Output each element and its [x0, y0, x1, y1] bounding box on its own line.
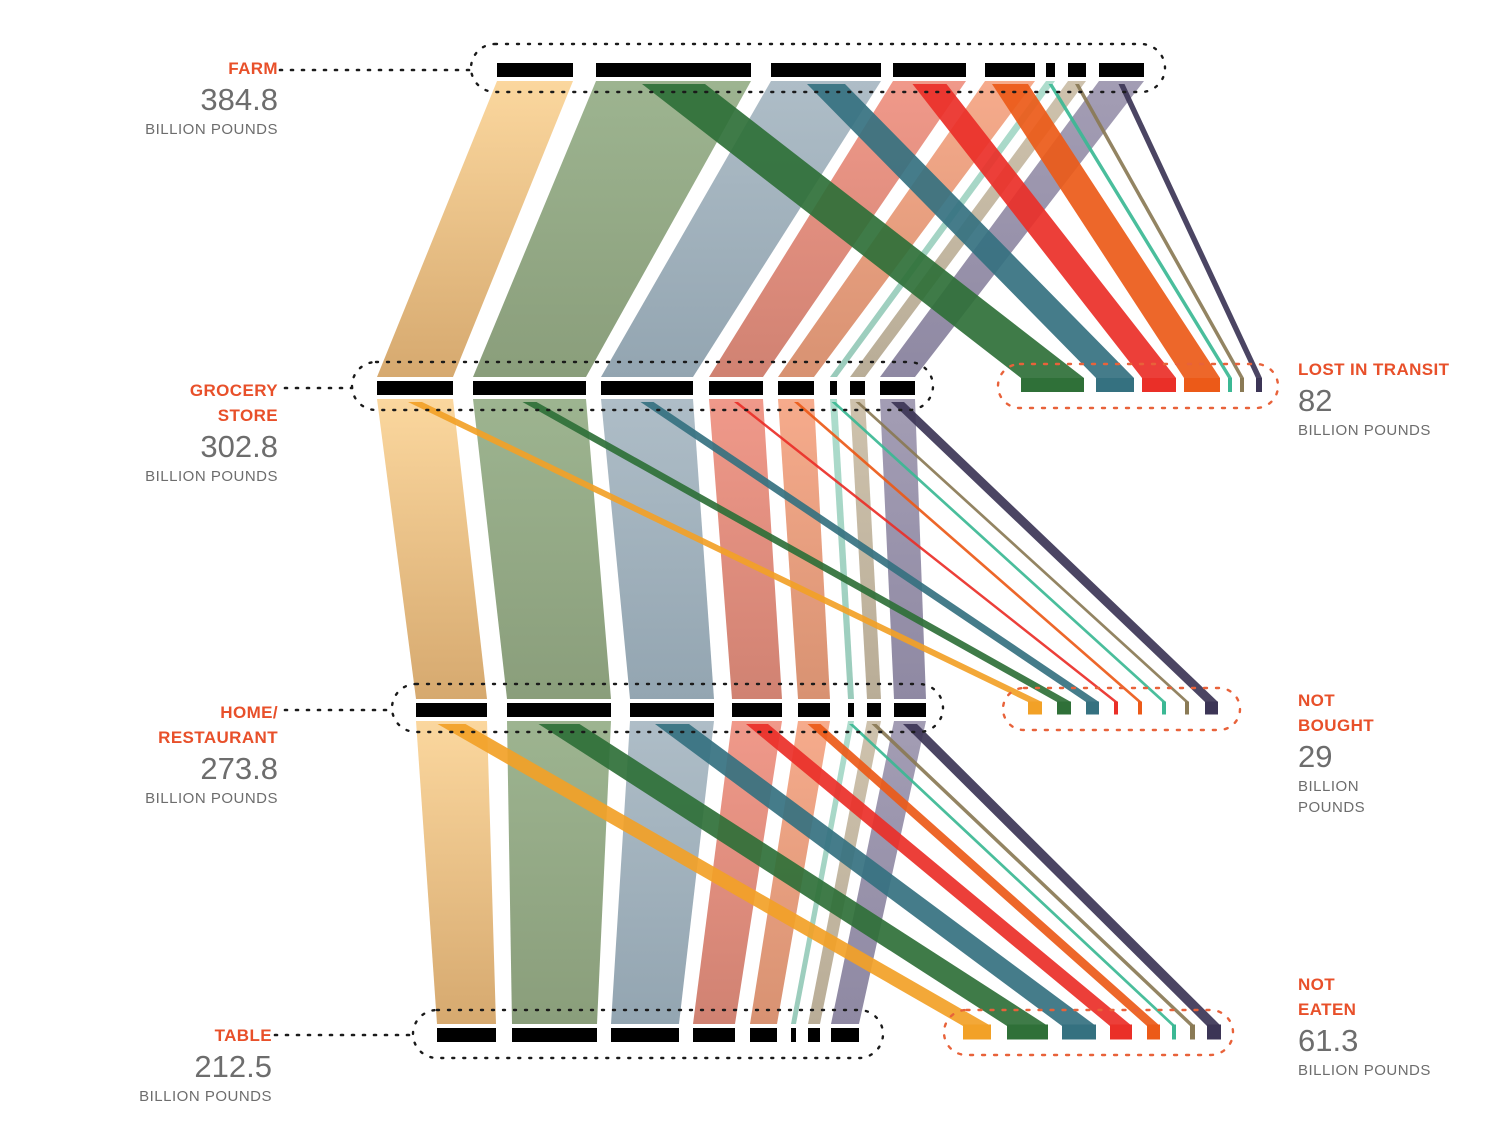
node-bar-segment [497, 63, 573, 77]
node-units-farm: BILLION POUNDS [0, 119, 278, 140]
node-bar-segment [611, 1028, 679, 1042]
node-units-not-bought-line1: BILLION [1298, 776, 1498, 797]
node-bar-segment [798, 703, 830, 717]
flow-band [377, 399, 487, 699]
node-bar-segment [985, 63, 1035, 77]
loss-bar-segment [1057, 702, 1071, 715]
loss-bar-segment [1205, 702, 1218, 715]
loss-bar-segment [1190, 1025, 1195, 1040]
node-bar-segment [893, 63, 966, 77]
node-label-lost-in-transit: LOST IN TRANSIT 82 BILLION POUNDS [1298, 357, 1498, 441]
flow-band [416, 721, 496, 1024]
node-bar-segment [507, 703, 611, 717]
node-label-farm: FARM 384.8 BILLION POUNDS [0, 56, 278, 140]
node-bar-segment [808, 1028, 820, 1042]
node-value-not-eaten: 61.3 [1298, 1022, 1498, 1060]
node-bar-segment [848, 703, 854, 717]
loss-bar-segment [1142, 378, 1176, 392]
node-bar-segment [1046, 63, 1055, 77]
node-bar-segment [732, 703, 782, 717]
node-bar-segment [693, 1028, 735, 1042]
node-bar-segment [437, 1028, 496, 1042]
node-bar-segment [771, 63, 881, 77]
loss-bar-segment [1138, 702, 1142, 715]
node-bar-segment [512, 1028, 597, 1042]
node-value-not-bought: 29 [1298, 738, 1498, 776]
node-bar-segment [596, 63, 751, 77]
loss-bar-segment [1096, 378, 1134, 392]
node-value-table: 212.5 [0, 1048, 272, 1086]
node-name-farm: FARM [0, 56, 278, 81]
node-units-table: BILLION POUNDS [0, 1086, 272, 1107]
node-bar-segment [416, 703, 487, 717]
node-bar-segment [830, 381, 837, 395]
node-name-grocery-store-line2: STORE [0, 403, 278, 428]
loss-bar-segment [1110, 1025, 1132, 1040]
node-bar-segment [630, 703, 714, 717]
node-bar-segment [473, 381, 586, 395]
sankey-diagram: FARM 384.8 BILLION POUNDS GROCERY STORE … [0, 0, 1500, 1125]
node-name-not-eaten-line2: EATEN [1298, 997, 1498, 1022]
node-units-not-bought-line2: POUNDS [1298, 797, 1498, 818]
node-name-lost-in-transit: LOST IN TRANSIT [1298, 357, 1498, 382]
node-label-home-restaurant: HOME/ RESTAURANT 273.8 BILLION POUNDS [0, 700, 278, 809]
node-value-lost-in-transit: 82 [1298, 382, 1498, 420]
loss-bar-segment [1228, 378, 1232, 392]
node-units-grocery-store: BILLION POUNDS [0, 466, 278, 487]
node-bar-segment [867, 703, 881, 717]
node-bar-segment [791, 1028, 796, 1042]
flow-band [830, 399, 854, 699]
loss-bar-segment [1207, 1025, 1221, 1040]
node-bar-segment [601, 381, 693, 395]
node-value-home-restaurant: 273.8 [0, 750, 278, 788]
node-bar-segment [709, 381, 763, 395]
node-bar-segment [831, 1028, 859, 1042]
node-bar-segment [894, 703, 926, 717]
node-bar-segment [750, 1028, 777, 1042]
node-name-not-eaten-line1: NOT [1298, 972, 1498, 997]
loss-bar-segment [1256, 378, 1262, 392]
loss-bar-segment [1062, 1025, 1096, 1040]
loss-bar-segment [1114, 702, 1118, 715]
loss-bar-segment [1147, 1025, 1160, 1040]
loss-flow [832, 402, 1167, 702]
loss-bar-segment [1240, 378, 1244, 392]
loss-bar-segment [1021, 378, 1084, 392]
node-name-not-bought-line2: BOUGHT [1298, 713, 1498, 738]
node-label-table: TABLE 212.5 BILLION POUNDS [0, 1023, 272, 1107]
node-name-not-bought-line1: NOT [1298, 688, 1498, 713]
node-units-lost-in-transit: BILLION POUNDS [1298, 420, 1498, 441]
node-value-farm: 384.8 [0, 81, 278, 119]
node-label-not-bought: NOT BOUGHT 29 BILLION POUNDS [1298, 688, 1498, 818]
node-name-table: TABLE [0, 1023, 272, 1048]
loss-bar-segment [1172, 1025, 1176, 1040]
loss-bar-segment [1028, 702, 1042, 715]
flow-band [601, 399, 714, 699]
node-name-home-restaurant-line2: RESTAURANT [0, 725, 278, 750]
loss-bar-segment [1086, 702, 1099, 715]
node-bar-segment [1099, 63, 1144, 77]
node-units-not-eaten: BILLION POUNDS [1298, 1060, 1498, 1081]
flow-canvas [0, 0, 1500, 1125]
node-units-home-restaurant: BILLION POUNDS [0, 788, 278, 809]
node-label-not-eaten: NOT EATEN 61.3 BILLION POUNDS [1298, 972, 1498, 1081]
flow-band [473, 399, 611, 699]
loss-bar-segment [1185, 702, 1189, 715]
node-bar-segment [880, 381, 915, 395]
loss-bar-segment [1184, 378, 1220, 392]
loss-bar-segment [1007, 1025, 1048, 1040]
node-bar-segment [850, 381, 865, 395]
node-bar-segment [377, 381, 453, 395]
loss-bar-segment [963, 1025, 991, 1040]
node-name-grocery-store-line1: GROCERY [0, 378, 278, 403]
node-name-home-restaurant-line1: HOME/ [0, 700, 278, 725]
loss-bar-segment [1162, 702, 1166, 715]
node-bar-segment [778, 381, 814, 395]
node-value-grocery-store: 302.8 [0, 428, 278, 466]
node-bar-segment [1068, 63, 1086, 77]
node-label-grocery-store: GROCERY STORE 302.8 BILLION POUNDS [0, 378, 278, 487]
